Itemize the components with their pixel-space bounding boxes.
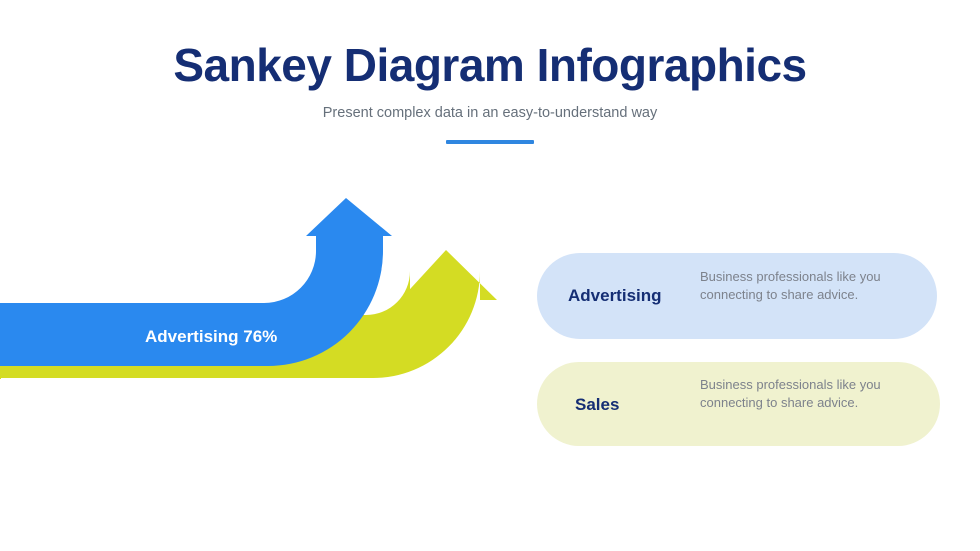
- flow-label-sales: Sales 86%: [145, 409, 228, 429]
- page-title: Sankey Diagram Infographics: [0, 36, 980, 94]
- page-subtitle: Present complex data in an easy-to-under…: [0, 94, 980, 123]
- legend-card-description-sales: Business professionals like you connecti…: [700, 376, 885, 411]
- legend-card-sales[interactable]: Sales Business professionals like you co…: [537, 362, 940, 446]
- legend-card-advertising[interactable]: Advertising Business professionals like …: [537, 253, 937, 339]
- flow-label-advertising: Advertising 76%: [145, 327, 277, 347]
- legend-card-title-sales: Sales: [575, 395, 619, 415]
- legend-card-description-advertising: Business professionals like you connecti…: [700, 268, 885, 303]
- slide-header: Sankey Diagram Infographics Present comp…: [0, 36, 980, 144]
- accent-rule-divider: [446, 140, 534, 144]
- legend-card-title-advertising: Advertising: [568, 286, 662, 306]
- slide-canvas: Sankey Diagram Infographics Present comp…: [0, 0, 980, 551]
